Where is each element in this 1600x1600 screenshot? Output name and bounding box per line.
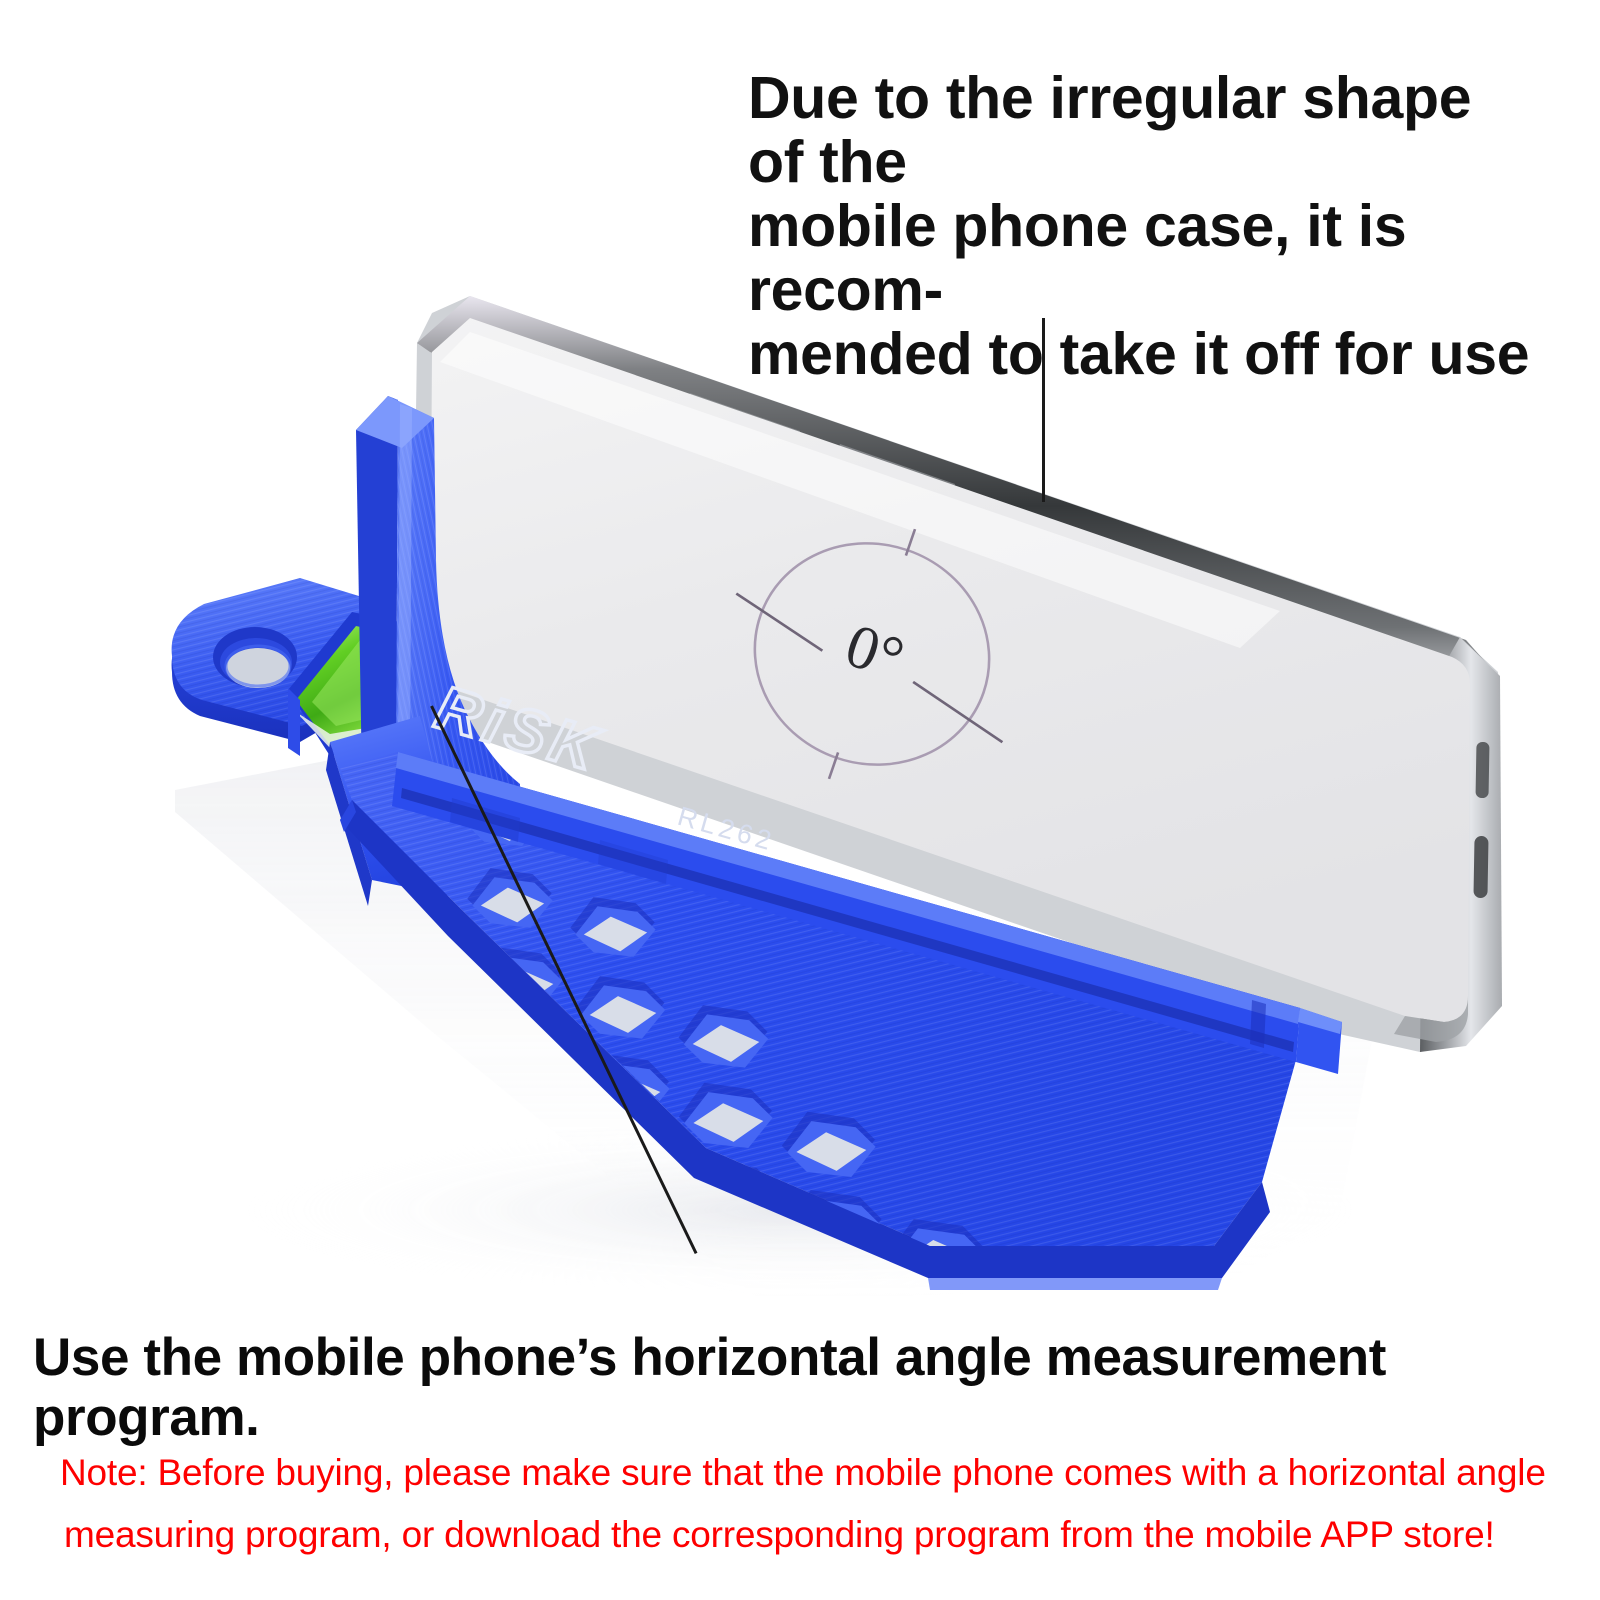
caption-text: Use the mobile phone’s horizontal angle …	[33, 1328, 1573, 1448]
note-line-2: measuring program, or download the corre…	[64, 1504, 1560, 1566]
headline-text: Due to the irregular shape of the mobile…	[748, 66, 1538, 386]
infographic-canvas: 0°	[0, 0, 1600, 1600]
note-line-1: Note: Before buying, please make sure th…	[60, 1442, 1560, 1504]
note-block: Note: Before buying, please make sure th…	[60, 1442, 1560, 1566]
